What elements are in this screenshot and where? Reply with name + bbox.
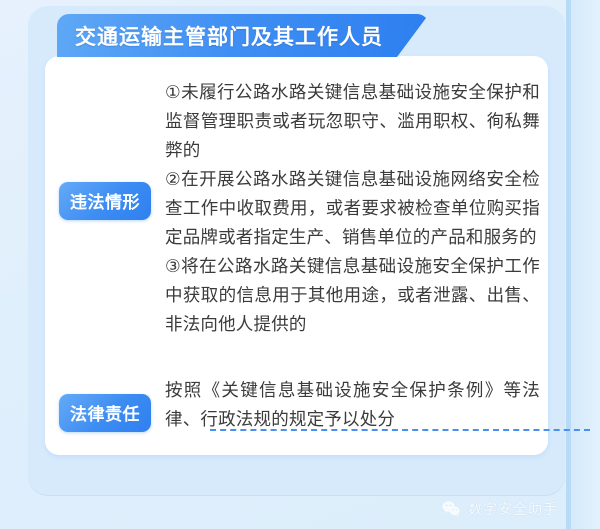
liability-clause-1: 按照《关键信息基础设施安全保护条例》等法律、行政法规的规定予以处分 — [165, 376, 540, 434]
violations-text-column: ①未履行公路水路关键信息基础设施安全保护和监督管理职责或者玩忽职守、滥用职权、徇… — [165, 78, 548, 339]
content-card: 违法情形 ①未履行公路水路关键信息基础设施安全保护和监督管理职责或者玩忽职守、滥… — [45, 56, 548, 455]
section-divider — [210, 429, 590, 431]
violations-clause-1: ①未履行公路水路关键信息基础设施安全保护和监督管理职责或者玩忽职守、滥用职权、徇… — [165, 78, 540, 165]
page-title: 交通运输主管部门及其工作人员 — [75, 21, 383, 51]
liability-text-column: 按照《关键信息基础设施安全保护条例》等法律、行政法规的规定予以处分 — [165, 376, 548, 434]
badge-violations: 违法情形 — [59, 182, 151, 220]
badge-liability: 法律责任 — [59, 394, 151, 432]
section-violations: 违法情形 ①未履行公路水路关键信息基础设施安全保护和监督管理职责或者玩忽职守、滥… — [45, 78, 548, 339]
watermark: 数字安全助手 — [441, 499, 558, 519]
section-liability: 法律责任 按照《关键信息基础设施安全保护条例》等法律、行政法规的规定予以处分 — [45, 376, 548, 434]
violations-clause-2: ②在开展公路水路关键信息基础设施网络安全检查工作中收取费用，或者要求被检查单位购… — [165, 165, 540, 252]
liability-badge-column: 法律责任 — [45, 376, 165, 432]
header-banner: 交通运输主管部门及其工作人员 — [57, 14, 429, 57]
watermark-text: 数字安全助手 — [468, 499, 558, 519]
wechat-icon — [441, 499, 461, 519]
background-right-band — [566, 0, 600, 529]
poster-canvas: 交通运输主管部门及其工作人员 违法情形 ①未履行公路水路关键信息基础设施安全保护… — [0, 0, 600, 529]
violations-badge-column: 违法情形 — [45, 78, 165, 220]
background-band-accent-line — [566, 0, 571, 529]
violations-clause-3: ③将在公路水路关键信息基础设施安全保护工作中获取的信息用于其他用途，或者泄露、出… — [165, 252, 540, 339]
